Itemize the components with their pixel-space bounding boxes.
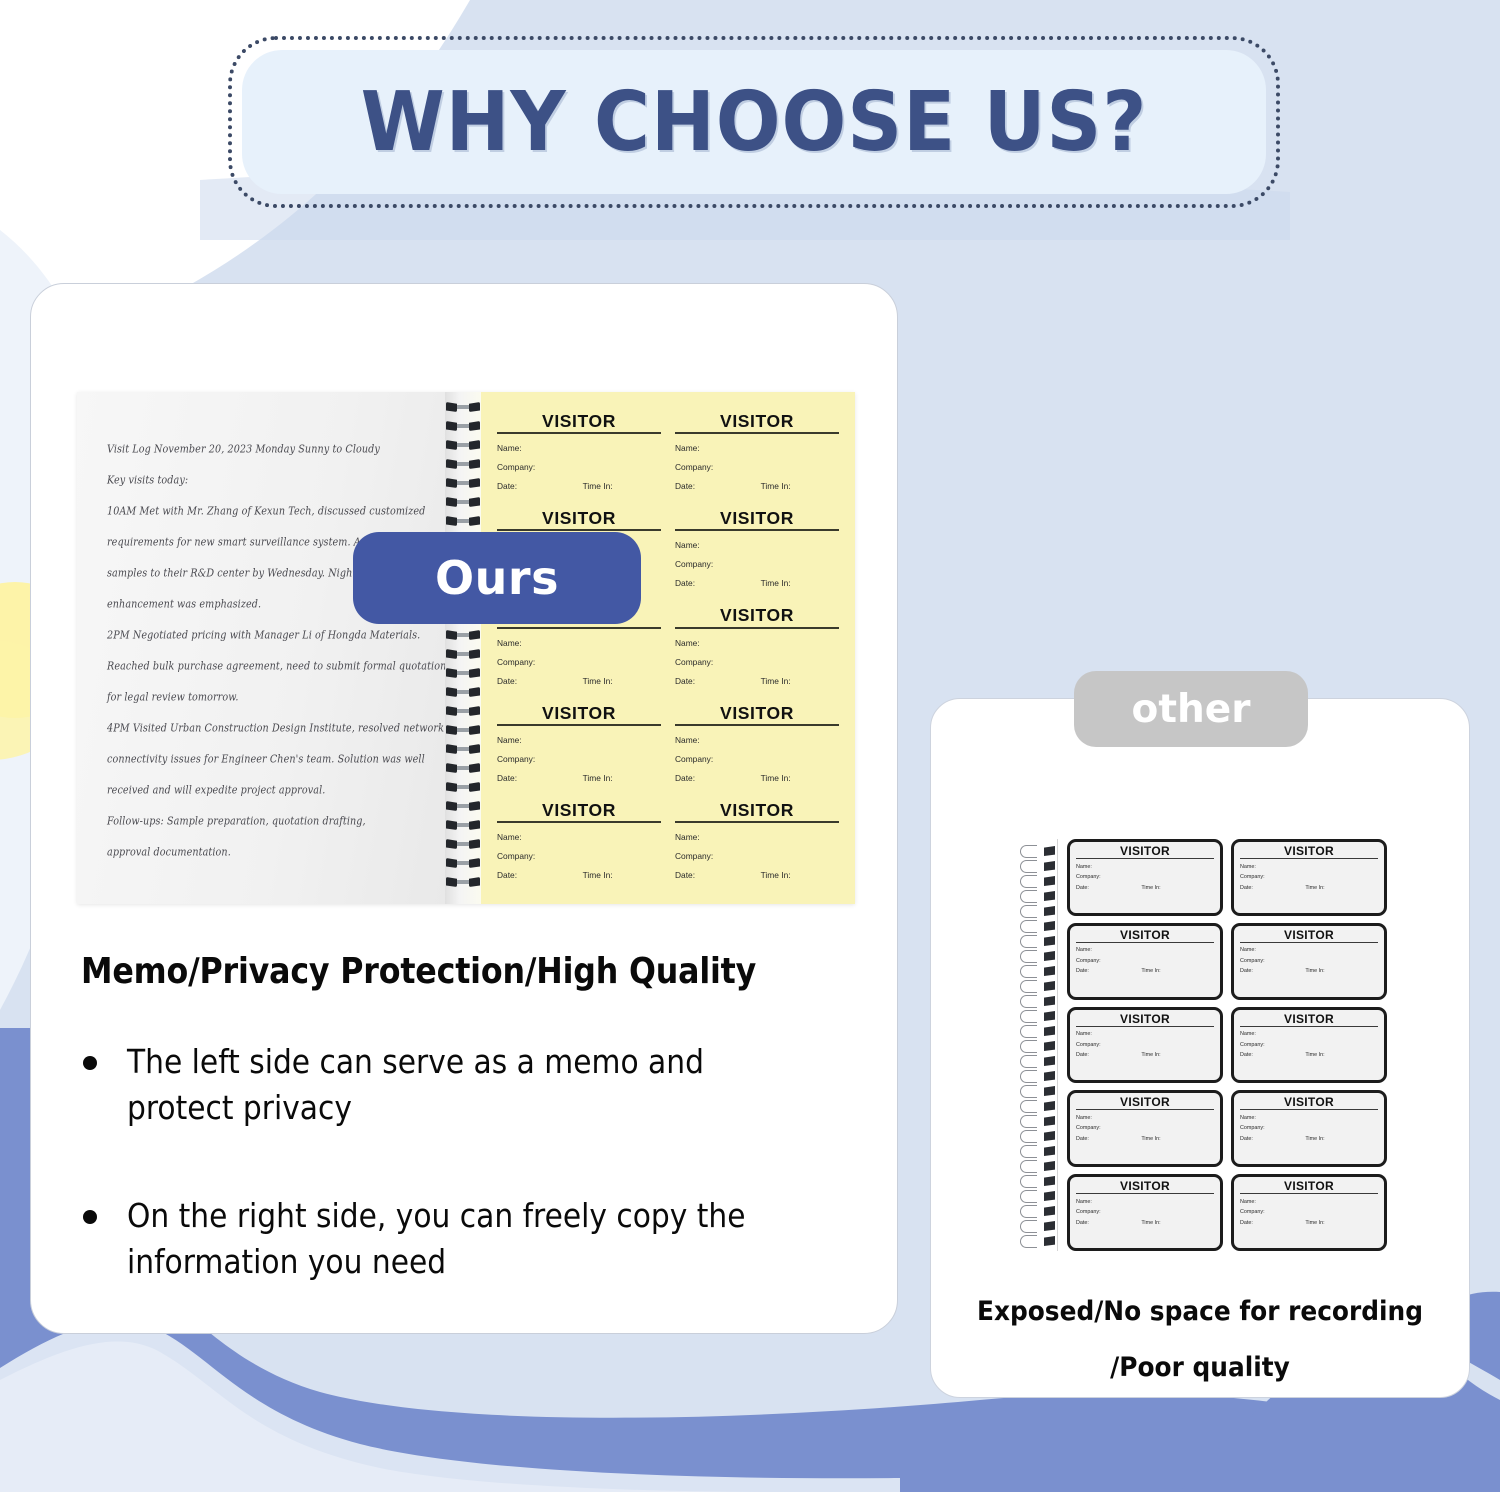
visitor-badge-name-row: Name:: [497, 832, 661, 842]
visitor-badge-title: VISITOR: [1240, 1180, 1378, 1194]
spiral-ring: [1019, 920, 1055, 933]
visitor-badge-date-row: Date:Time In:: [1076, 885, 1214, 891]
page-title: WHY CHOOSE US?: [361, 75, 1148, 170]
other-caption-line-2: /Poor quality: [953, 1340, 1448, 1396]
page-header: WHY CHOOSE US?: [228, 36, 1280, 208]
visitor-badge-title: VISITOR: [1076, 929, 1214, 943]
visitor-badge-name-row: Name:: [675, 638, 839, 648]
visitor-badge-date-row: Date:Time In:: [675, 578, 839, 588]
visitor-badge: VISITORName:Company:Date:Time In:: [1067, 923, 1223, 1000]
header-pill: WHY CHOOSE US?: [242, 50, 1266, 194]
visitor-badge-title: VISITOR: [675, 509, 839, 531]
spiral-ring: [1019, 1220, 1055, 1233]
visitor-badge-name-row: Name:: [1240, 1115, 1378, 1121]
visitor-badge-date-row: Date:Time In:: [1076, 1136, 1214, 1142]
visitor-badge-name-row: Name:: [497, 443, 661, 453]
spiral-ring: [446, 478, 480, 488]
visitor-badge-date-row: Date:Time In:: [497, 676, 661, 686]
visitor-badge-title: VISITOR: [1240, 1096, 1378, 1110]
other-visitor-badge-grid: VISITORName:Company:Date:Time In:VISITOR…: [1067, 839, 1389, 1251]
visitor-badge-date-row: Date:Time In:: [675, 481, 839, 491]
visitor-badge-title: VISITOR: [1240, 929, 1378, 943]
visitor-badge: VISITORName:Company:Date:Time In:: [675, 799, 839, 894]
spiral-ring: [446, 440, 480, 450]
visitor-badge-date-row: Date:Time In:: [1076, 968, 1214, 974]
spiral-ring: [1019, 905, 1055, 918]
visitor-badge-name-row: Name:: [1240, 864, 1378, 870]
spiral-ring: [1019, 1145, 1055, 1158]
spiral-ring: [1019, 1040, 1055, 1053]
visitor-badge-name-row: Name:: [675, 540, 839, 550]
visitor-badge: VISITORName:Company:Date:Time In:: [1067, 1007, 1223, 1084]
spiral-ring: [446, 877, 480, 887]
bullet-dot-icon: [83, 1056, 97, 1070]
visitor-badge-company-row: Company:: [1240, 874, 1378, 880]
other-notebook-photo: VISITORName:Company:Date:Time In:VISITOR…: [1019, 839, 1389, 1251]
other-caption: Exposed/No space for recording /Poor qua…: [953, 1284, 1448, 1396]
ours-notebook-photo: Visit Log November 20, 2023 Monday Sunny…: [77, 392, 855, 904]
visitor-badge: VISITORName:Company:Date:Time In:: [1067, 1090, 1223, 1167]
other-badge: other: [1074, 671, 1308, 747]
bullet-text: On the right side, you can freely copy t…: [127, 1193, 780, 1285]
spiral-ring: [1019, 1010, 1055, 1023]
visitor-badge-title: VISITOR: [1240, 845, 1378, 859]
spiral-ring: [1019, 965, 1055, 978]
ours-bullet-list: The left side can serve as a memo and pr…: [83, 1039, 853, 1347]
memo-line: 10AM Met with Mr. Zhang of Kexun Tech, d…: [107, 494, 427, 529]
spiral-ring: [446, 820, 480, 830]
visitor-badge-date-row: Date:Time In:: [675, 773, 839, 783]
visitor-badge: VISITORName:Company:Date:Time In:: [1067, 1174, 1223, 1251]
spiral-ring: [446, 782, 480, 792]
ours-badge-label: Ours: [435, 551, 559, 605]
spiral-ring: [1019, 1160, 1055, 1173]
visitor-badge-company-row: Company:: [1076, 874, 1214, 880]
visitor-badge-title: VISITOR: [497, 412, 661, 434]
visitor-badge-company-row: Company:: [497, 657, 661, 667]
visitor-badge-date-row: Date:Time In:: [1240, 1052, 1378, 1058]
visitor-badge: VISITORName:Company:Date:Time In:: [1231, 1174, 1387, 1251]
visitor-badge-title: VISITOR: [497, 509, 661, 531]
visitor-badge-name-row: Name:: [1240, 947, 1378, 953]
visitor-badge-date-row: Date:Time In:: [1240, 968, 1378, 974]
visitor-badge-company-row: Company:: [675, 657, 839, 667]
visitor-badge-company-row: Company:: [1240, 1125, 1378, 1131]
visitor-badge-title: VISITOR: [1076, 1180, 1214, 1194]
bullet-item: The left side can serve as a memo and pr…: [83, 1039, 853, 1131]
visitor-badge-company-row: Company:: [1076, 1042, 1214, 1048]
spiral-ring: [1019, 1130, 1055, 1143]
visitor-badge-title: VISITOR: [675, 606, 839, 628]
notebook-spiral-binding: [445, 392, 481, 904]
bullet-dot-icon: [83, 1210, 97, 1224]
visitor-badge-company-row: Company:: [675, 559, 839, 569]
visitor-badge: VISITORName:Company:Date:Time In:: [1231, 1090, 1387, 1167]
spiral-ring: [446, 706, 480, 716]
visitor-badge-date-row: Date:Time In:: [497, 481, 661, 491]
other-card: VISITORName:Company:Date:Time In:VISITOR…: [930, 698, 1470, 1398]
other-badge-label: other: [1132, 687, 1251, 732]
spiral-ring: [446, 649, 480, 659]
visitor-badge-company-row: Company:: [1076, 958, 1214, 964]
memo-line: Reached bulk purchase agreement, need to…: [107, 649, 427, 684]
memo-line: received and will expedite project appro…: [107, 773, 427, 808]
spiral-ring: [1019, 1175, 1055, 1188]
memo-line: connectivity issues for Engineer Chen's …: [107, 742, 427, 777]
ours-badge: Ours: [353, 532, 641, 624]
visitor-badge: VISITORName:Company:Date:Time In:: [497, 702, 661, 797]
spiral-ring: [1019, 845, 1055, 858]
visitor-badge-title: VISITOR: [675, 801, 839, 823]
spiral-ring: [1019, 935, 1055, 948]
other-spiral-binding: [1019, 839, 1057, 1251]
visitor-badge: VISITORName:Company:Date:Time In:: [497, 410, 661, 505]
spiral-ring: [1019, 995, 1055, 1008]
memo-line: approval documentation.: [107, 835, 427, 870]
spiral-ring: [1019, 1205, 1055, 1218]
visitor-badge: VISITORName:Company:Date:Time In:: [1067, 839, 1223, 916]
spiral-ring: [1019, 1055, 1055, 1068]
other-page-divider: [1057, 839, 1067, 1251]
visitor-badge-company-row: Company:: [1076, 1125, 1214, 1131]
visitor-badge-title: VISITOR: [675, 412, 839, 434]
spiral-ring: [446, 421, 480, 431]
visitor-badge-title: VISITOR: [1076, 1096, 1214, 1110]
spiral-ring: [446, 497, 480, 507]
spiral-ring: [446, 744, 480, 754]
bullet-text: The left side can serve as a memo and pr…: [127, 1039, 780, 1131]
memo-line: Follow-ups: Sample preparation, quotatio…: [107, 804, 427, 839]
visitor-badge-company-row: Company:: [497, 462, 661, 472]
memo-line: for legal review tomorrow.: [107, 680, 427, 715]
spiral-ring: [446, 516, 480, 526]
visitor-badge-company-row: Company:: [675, 754, 839, 764]
visitor-badge-name-row: Name:: [497, 735, 661, 745]
spiral-ring: [1019, 980, 1055, 993]
visitor-badge-company-row: Company:: [1240, 958, 1378, 964]
spiral-ring: [446, 725, 480, 735]
spiral-ring: [1019, 875, 1055, 888]
spiral-ring: [1019, 1100, 1055, 1113]
visitor-badge-company-row: Company:: [1240, 1042, 1378, 1048]
memo-line: 4PM Visited Urban Construction Design In…: [107, 711, 427, 746]
visitor-badge-company-row: Company:: [1240, 1209, 1378, 1215]
spiral-ring: [446, 402, 480, 412]
visitor-badge-name-row: Name:: [675, 735, 839, 745]
visitor-badge-company-row: Company:: [497, 851, 661, 861]
spiral-ring: [446, 858, 480, 868]
visitor-badge-name-row: Name:: [675, 832, 839, 842]
visitor-badge: VISITORName:Company:Date:Time In:: [1231, 1007, 1387, 1084]
visitor-badge-name-row: Name:: [1076, 1031, 1214, 1037]
visitor-badge: VISITORName:Company:Date:Time In:: [1231, 839, 1387, 916]
notebook-memo-page: Visit Log November 20, 2023 Monday Sunny…: [77, 392, 445, 904]
memo-line: Visit Log November 20, 2023 Monday Sunny…: [107, 432, 427, 467]
visitor-badge-name-row: Name:: [497, 638, 661, 648]
visitor-badge-date-row: Date:Time In:: [1240, 885, 1378, 891]
visitor-badge-title: VISITOR: [675, 704, 839, 726]
visitor-badge: VISITORName:Company:Date:Time In:: [497, 799, 661, 894]
visitor-badge: VISITORName:Company:Date:Time In:: [1231, 923, 1387, 1000]
visitor-badge-name-row: Name:: [1240, 1199, 1378, 1205]
spiral-ring: [1019, 1085, 1055, 1098]
ours-heading: Memo/Privacy Protection/High Quality: [81, 951, 756, 992]
ours-card: Ours Visit Log November 20, 2023 Monday …: [30, 283, 898, 1334]
visitor-badge-date-row: Date:Time In:: [675, 870, 839, 880]
spiral-ring: [1019, 890, 1055, 903]
visitor-badge: VISITORName:Company:Date:Time In:: [675, 410, 839, 505]
spiral-ring: [1019, 1235, 1055, 1248]
visitor-badge: VISITORName:Company:Date:Time In:: [675, 702, 839, 797]
visitor-badge-company-row: Company:: [675, 462, 839, 472]
visitor-badge-name-row: Name:: [1076, 1115, 1214, 1121]
spiral-ring: [446, 630, 480, 640]
visitor-badge-date-row: Date:Time In:: [1240, 1136, 1378, 1142]
visitor-badge-name-row: Name:: [675, 443, 839, 453]
visitor-badge-title: VISITOR: [1076, 845, 1214, 859]
visitor-badge: VISITORName:Company:Date:Time In:: [675, 604, 839, 699]
visitor-badge-date-row: Date:Time In:: [1240, 1220, 1378, 1226]
spiral-ring: [1019, 860, 1055, 873]
visitor-badge-company-row: Company:: [675, 851, 839, 861]
visitor-badge-date-row: Date:Time In:: [1076, 1220, 1214, 1226]
visitor-badge-date-row: Date:Time In:: [497, 870, 661, 880]
spiral-ring: [1019, 950, 1055, 963]
spiral-ring: [1019, 1115, 1055, 1128]
visitor-badge-company-row: Company:: [1076, 1209, 1214, 1215]
memo-line: Key visits today:: [107, 463, 427, 498]
spiral-ring: [446, 459, 480, 469]
visitor-badge-title: VISITOR: [497, 801, 661, 823]
visitor-badge-date-row: Date:Time In:: [1076, 1052, 1214, 1058]
spiral-ring: [446, 687, 480, 697]
spiral-ring: [1019, 1025, 1055, 1038]
spiral-ring: [446, 668, 480, 678]
other-caption-line-1: Exposed/No space for recording: [953, 1284, 1448, 1340]
visitor-badge-name-row: Name:: [1240, 1031, 1378, 1037]
spiral-ring: [1019, 1190, 1055, 1203]
visitor-badge-name-row: Name:: [1076, 947, 1214, 953]
visitor-badge-name-row: Name:: [1076, 864, 1214, 870]
spiral-ring: [1019, 1070, 1055, 1083]
visitor-badge-title: VISITOR: [1076, 1013, 1214, 1027]
visitor-badge: VISITORName:Company:Date:Time In:: [675, 507, 839, 602]
visitor-badge-company-row: Company:: [497, 754, 661, 764]
visitor-badge-name-row: Name:: [1076, 1199, 1214, 1205]
spiral-ring: [446, 763, 480, 773]
visitor-badge-title: VISITOR: [1240, 1013, 1378, 1027]
notebook-visitor-badge-page: VISITORName:Company:Date:Time In:VISITOR…: [481, 392, 855, 904]
bullet-item: On the right side, you can freely copy t…: [83, 1193, 853, 1285]
visitor-badge-date-row: Date:Time In:: [497, 773, 661, 783]
visitor-badge-title: VISITOR: [497, 704, 661, 726]
spiral-ring: [446, 839, 480, 849]
spiral-ring: [446, 801, 480, 811]
visitor-badge-date-row: Date:Time In:: [675, 676, 839, 686]
